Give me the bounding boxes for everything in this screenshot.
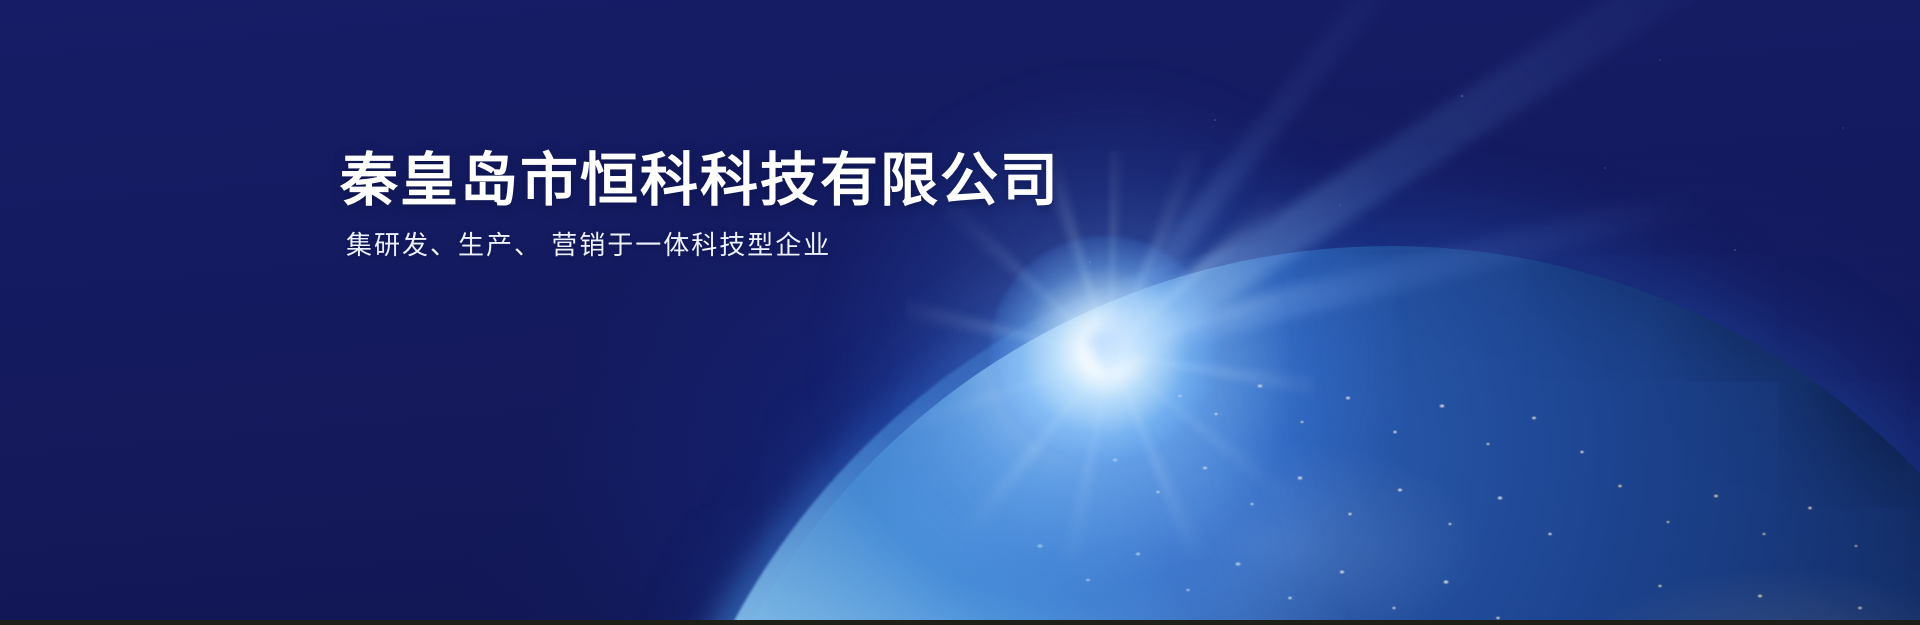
- company-name-title: 秦皇岛市恒科科技有限公司: [340, 150, 1060, 213]
- banner-text-block: 秦皇岛市恒科科技有限公司 集研发、生产、 营销于一体科技型企业: [340, 150, 1060, 262]
- company-hero-banner: 秦皇岛市恒科科技有限公司 集研发、生产、 营销于一体科技型企业: [0, 0, 1920, 625]
- company-tagline-subtitle: 集研发、生产、 营销于一体科技型企业: [346, 229, 1060, 263]
- bottom-trim-strip: [0, 620, 1920, 625]
